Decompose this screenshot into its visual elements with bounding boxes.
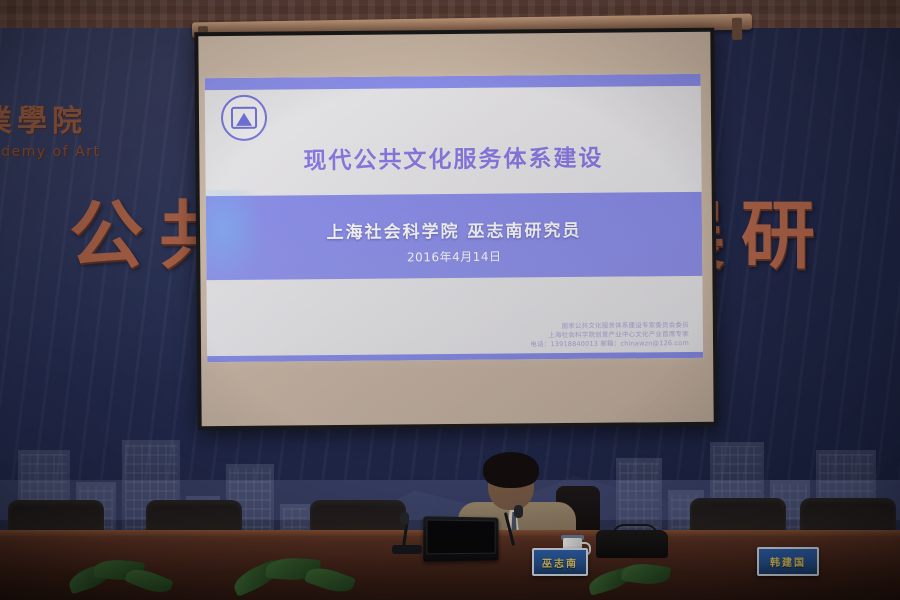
projector-screen-surface: 现代公共文化服务体系建设 上海社会科学院 巫志南研究员 2016年4月14日 国… (198, 32, 713, 426)
bag-strap (612, 524, 658, 538)
projected-slide: 现代公共文化服务体系建设 上海社会科学院 巫志南研究员 2016年4月14日 国… (205, 74, 703, 362)
slide-title: 现代公共文化服务体系建设 (205, 138, 701, 176)
speaker-glasses (492, 480, 530, 488)
foreground-plant (232, 554, 362, 600)
laptop (423, 516, 498, 561)
microphone-base (392, 545, 422, 554)
slide-bottom-accent-bar (207, 352, 703, 362)
guest-placard: 韩建国 (757, 547, 819, 576)
banner-institution-logo: 業學院 cademy of Art (0, 96, 182, 160)
banner-institution-name-en: cademy of Art (0, 144, 182, 160)
foreground-plant (586, 560, 706, 600)
microphone-head (400, 512, 409, 525)
academy-emblem-icon (221, 95, 267, 141)
foreground-plant (64, 558, 184, 600)
roller-bracket-right (732, 18, 742, 40)
speaker-placard: 巫志南 (532, 548, 588, 576)
slide-footer-contact: 国家公共文化服务体系建设专家委员会委员 上海社会科学院创意产业中心文化产业首席专… (530, 321, 689, 349)
laptop-screen (426, 519, 495, 554)
guest-placard-text: 韩建国 (770, 554, 806, 569)
microphone-head (514, 505, 523, 518)
banner-institution-name-cn: 業學院 (0, 96, 182, 140)
slide-footer-line-3: 电话：13918840013 邮箱：chinawzn@126.com (530, 339, 689, 349)
emblem-ring (222, 96, 266, 140)
conference-photo-scene: 公共文化 与发展研 業學院 cademy of Art (0, 0, 900, 600)
speaker-placard-text: 巫志南 (542, 555, 578, 570)
slide-subtitle: 上海社会科学院 巫志南研究员 (206, 215, 702, 244)
projector-screen: 现代公共文化服务体系建设 上海社会科学院 巫志南研究员 2016年4月14日 国… (194, 28, 717, 431)
slide-top-accent-bar (205, 74, 701, 90)
